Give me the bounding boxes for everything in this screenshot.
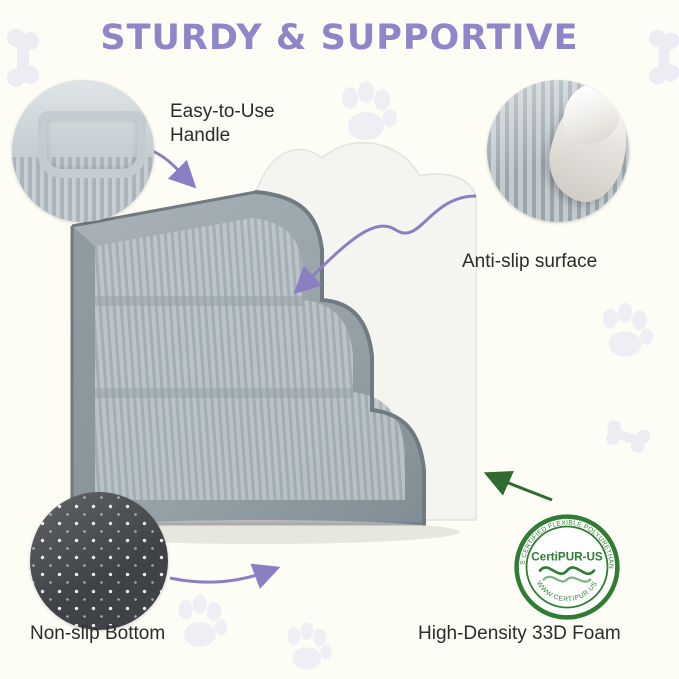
nonslip-bottom-photo <box>30 492 168 630</box>
label-non-slip-bottom: Non-slip Bottom <box>30 622 260 646</box>
handle-closeup-inset <box>12 80 154 222</box>
label-easy-to-use-handle: Easy-to-Use Handle <box>170 100 330 148</box>
label-anti-slip-surface: Anti-slip surface <box>462 250 662 274</box>
riser-shadow-2 <box>95 388 353 398</box>
badge-inner-ring <box>527 527 608 608</box>
stair-left-edge <box>72 226 95 524</box>
badge-title: CertiPUR-US <box>531 551 603 564</box>
nonslip-bottom-inset <box>30 492 168 630</box>
infographic-canvas: STURDY & SUPPORTIVE <box>0 0 679 679</box>
handle-photo <box>12 80 154 222</box>
riser-shadow-1 <box>95 296 303 306</box>
stair-tread-middle <box>95 300 353 392</box>
certipur-badge: CONTAINS CERTIFIED FLEXIBLE POLYURETHANE… <box>513 513 621 621</box>
stair-tread-bottom <box>95 392 405 500</box>
antislip-closeup-inset <box>487 80 629 222</box>
antislip-photo <box>487 80 629 222</box>
label-high-density-foam: High-Density 33D Foam <box>418 622 668 646</box>
